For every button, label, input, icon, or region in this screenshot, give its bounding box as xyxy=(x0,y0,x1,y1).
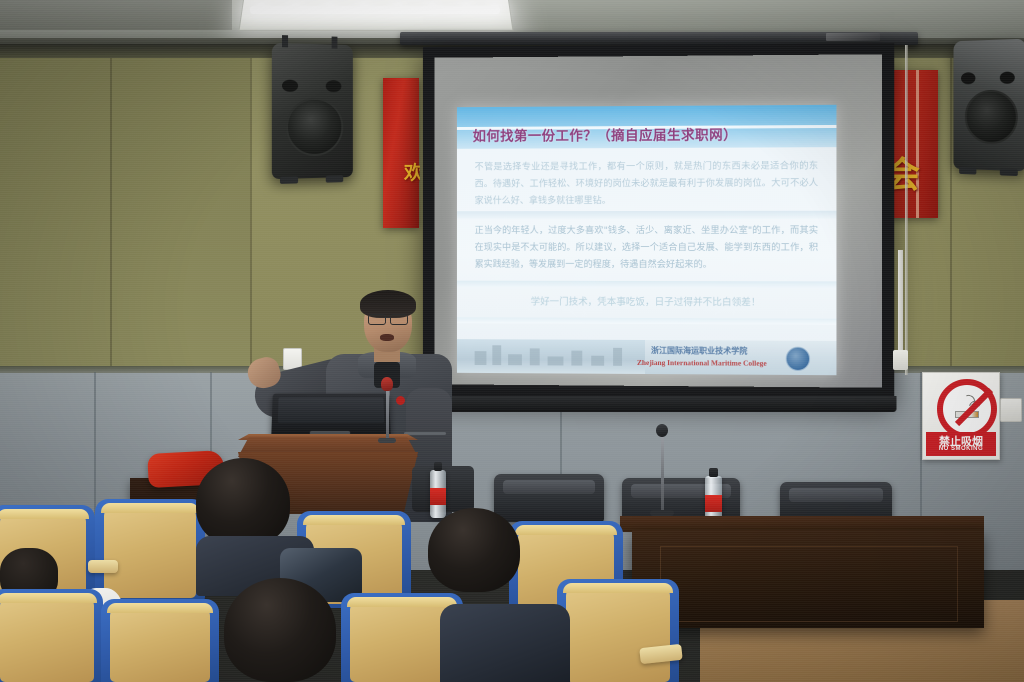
wall-seam xyxy=(950,58,952,368)
presentation-slide: 如何找第一份工作？（摘自应届生求职网） 不管是选择专业还是寻找工作，都有一个原则… xyxy=(457,105,837,375)
banner-left-character: 欢 xyxy=(404,158,420,185)
wainscot-seam xyxy=(94,372,96,522)
slide-footer-institution-en: Zhejiang International Maritime College xyxy=(637,358,767,368)
audience-head xyxy=(224,578,336,682)
glasses-icon xyxy=(390,314,408,325)
red-banner-left xyxy=(383,78,419,228)
glasses-icon xyxy=(368,314,386,325)
prohibition-circle-icon xyxy=(937,379,997,439)
pa-speaker-left xyxy=(272,43,353,179)
slide-paragraph-3: 学好一门技术，凭本事吃饭，日子过得并不比白领差！ xyxy=(475,294,819,312)
audience-seat[interactable] xyxy=(110,606,210,682)
audience-person-shoulders xyxy=(440,604,570,682)
monitor-screen xyxy=(278,397,384,422)
no-smoking-label-band: 禁止吸烟 NO SMOKING xyxy=(926,432,996,456)
audience-head xyxy=(196,458,290,546)
microphone-icon xyxy=(381,377,393,391)
slide-footer: 浙江国际海运职业技术学院 Zhejiang International Mari… xyxy=(457,339,837,375)
screen-brand-label xyxy=(826,33,880,41)
conduit-junction-box xyxy=(893,350,908,370)
lecture-hall-photo: 欢 会 如何找第一份工作？（摘自应届生求职网） 不管是选择专业还是寻找工作，都有… xyxy=(0,0,1024,682)
presenter-mouth xyxy=(380,334,394,341)
glasses-bridge xyxy=(384,317,391,318)
jacket-pocket xyxy=(404,432,446,435)
slide-paragraph-1: 不管是选择专业还是寻找工作，都有一个原则，就是热门的东西未必是适合你的东西。待遇… xyxy=(475,157,819,209)
pa-speaker-right xyxy=(953,39,1024,172)
slide-divider xyxy=(457,211,837,219)
no-smoking-text-en: NO SMOKING xyxy=(926,446,996,452)
conference-table-panel xyxy=(660,546,958,622)
prohibition-slash-icon xyxy=(955,388,993,426)
slide-paragraph-2: 正当今的年轻人，过度大多喜欢"钱多、活少、离家近、坐里办公室"的工作，而其实在现… xyxy=(475,222,819,273)
screen-bottom-bar xyxy=(421,396,896,412)
red-badge xyxy=(396,396,405,405)
audience-head xyxy=(428,508,520,592)
institution-logo xyxy=(786,347,810,371)
podium-monitor[interactable] xyxy=(271,394,391,439)
wall-seam xyxy=(110,58,112,368)
microphone-stem xyxy=(386,386,389,442)
no-smoking-sign: 禁止吸烟 NO SMOKING xyxy=(922,372,1000,460)
light-tube xyxy=(250,6,500,14)
slide-divider xyxy=(457,317,837,324)
ceiling-left-section xyxy=(0,0,232,30)
upper-wall-left xyxy=(0,44,250,374)
fluorescent-light-panel xyxy=(238,0,513,31)
stage-chair[interactable] xyxy=(494,474,604,522)
wall-outlet-right[interactable] xyxy=(1000,398,1022,422)
seat-armrest xyxy=(88,560,118,573)
audience-seat[interactable] xyxy=(566,586,670,682)
slide-footer-institution-cn: 浙江国际海运职业技术学院 xyxy=(651,345,747,357)
audience-seat[interactable] xyxy=(350,600,454,682)
microphone-base xyxy=(378,438,396,443)
audience-seat[interactable] xyxy=(0,596,94,682)
slide-divider xyxy=(457,281,837,289)
screen-pull-rod xyxy=(905,45,908,375)
water-bottle xyxy=(430,470,446,518)
slide-footer-photo xyxy=(457,339,645,374)
slide-title: 如何找第一份工作？（摘自应届生求职网） xyxy=(473,123,825,145)
table-microphone-icon xyxy=(656,424,668,437)
table-microphone-stem xyxy=(661,432,664,514)
audience-seat[interactable] xyxy=(104,506,196,598)
